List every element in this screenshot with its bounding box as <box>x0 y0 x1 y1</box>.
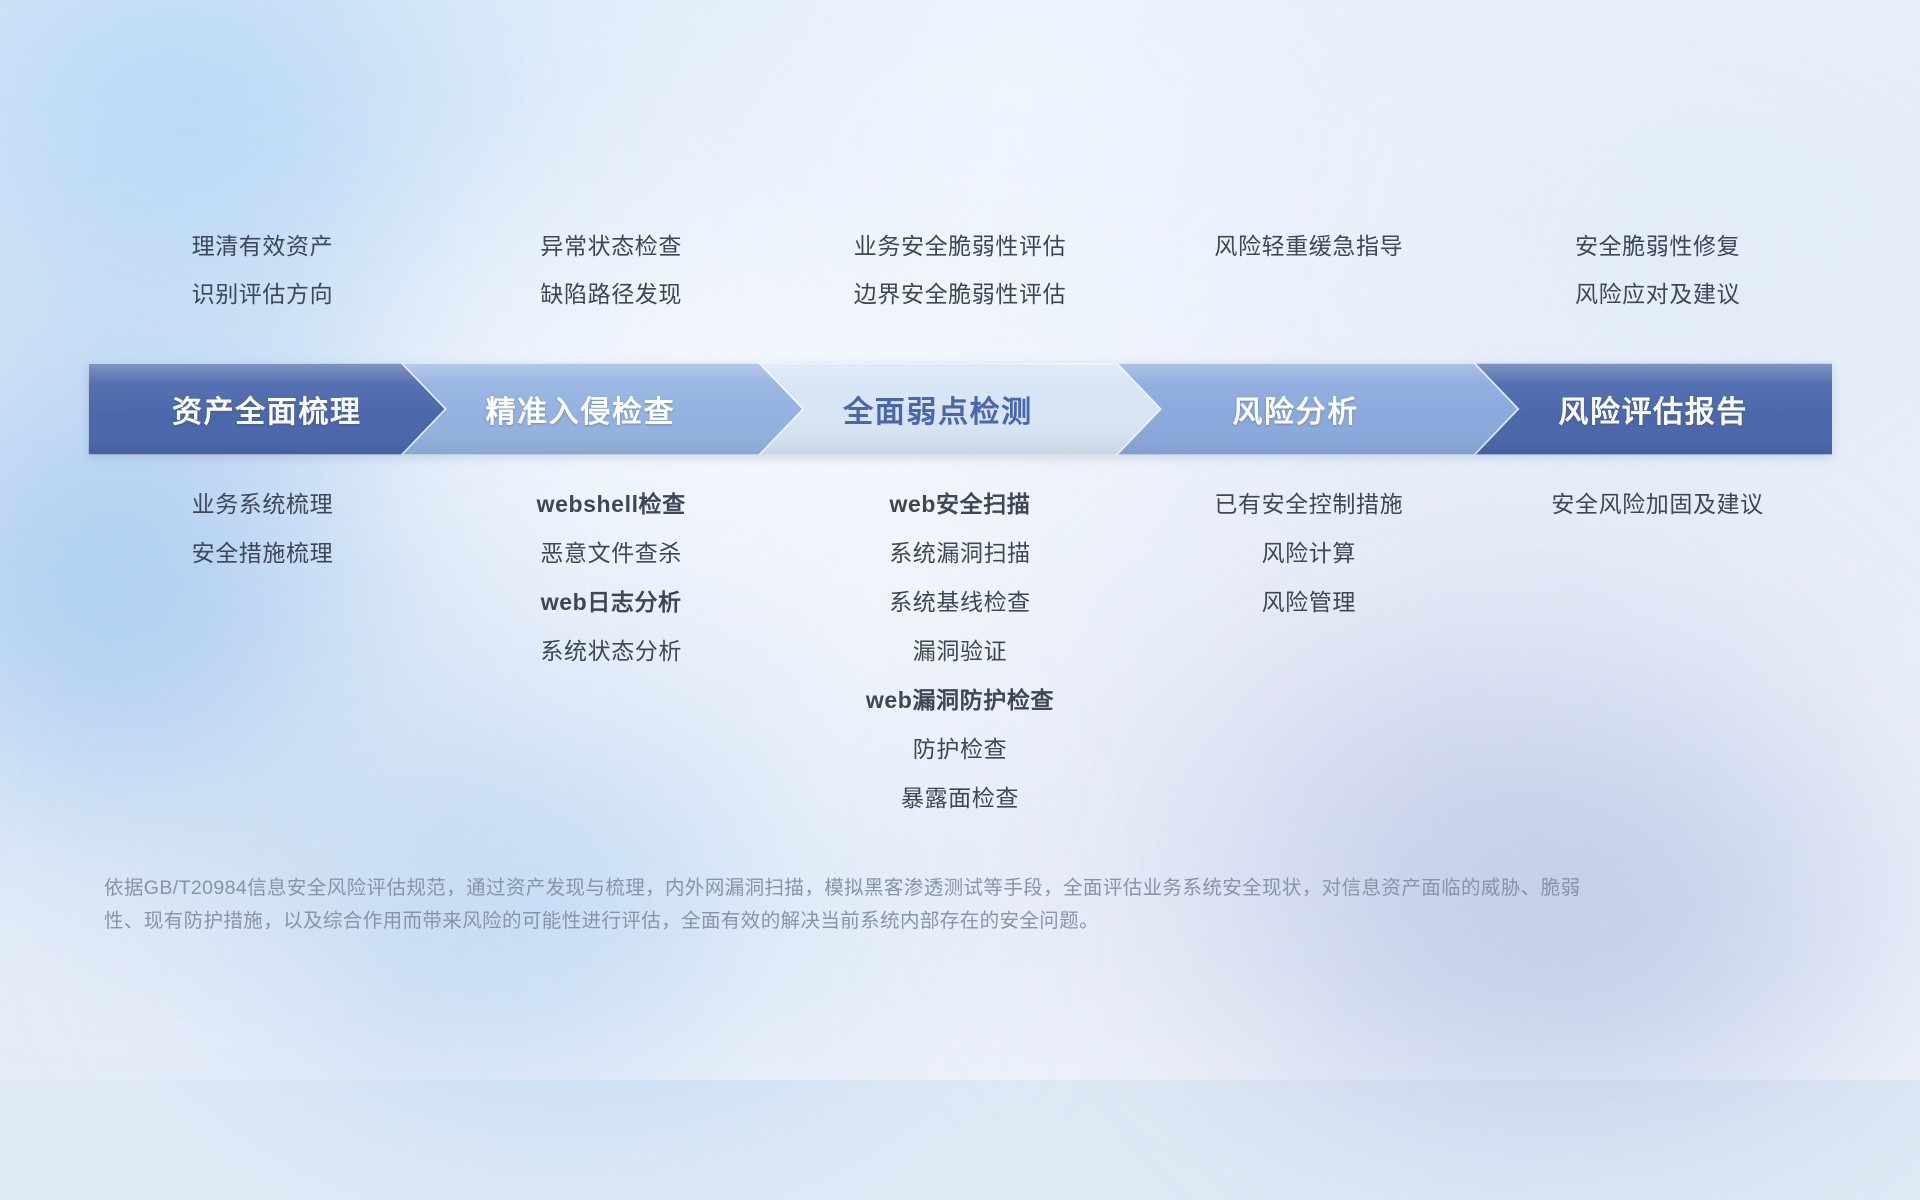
top-note-column: 业务安全脆弱性评估边界安全脆弱性评估 <box>786 222 1135 318</box>
chevron-shapes <box>88 363 1832 455</box>
top-note-line: 边界安全脆弱性评估 <box>786 270 1135 318</box>
bottom-note-item: web漏洞防护检查 <box>786 676 1135 725</box>
bottom-note-item: 业务系统梳理 <box>88 480 437 529</box>
bottom-note-item: 安全措施梳理 <box>88 529 437 578</box>
top-note-line: 风险轻重缓急指导 <box>1134 222 1483 270</box>
bottom-note-item: web日志分析 <box>437 578 786 627</box>
bottom-note-column: web安全扫描系统漏洞扫描系统基线检查漏洞验证web漏洞防护检查防护检查暴露面检… <box>786 480 1135 823</box>
stage-chevron-band: 资产全面梳理精准入侵检查全面弱点检测风险分析风险评估报告 <box>88 363 1832 455</box>
bottom-note-item: 防护检查 <box>786 725 1135 774</box>
bottom-note-item-text: web漏洞防护检查 <box>866 687 1054 713</box>
bottom-note-item: 暴露面检查 <box>786 774 1135 823</box>
bottom-note-column: 业务系统梳理安全措施梳理 <box>88 480 437 578</box>
chevron-sheen-1 <box>88 363 446 455</box>
bottom-note-item: 系统漏洞扫描 <box>786 529 1135 578</box>
bottom-note-item: 系统基线检查 <box>786 578 1135 627</box>
bottom-note-column: 已有安全控制措施风险计算风险管理 <box>1134 480 1483 627</box>
bottom-note-item-text: webshell检查 <box>537 491 686 517</box>
process-diagram: 理清有效资产识别评估方向异常状态检查缺陷路径发现业务安全脆弱性评估边界安全脆弱性… <box>0 0 1920 1080</box>
top-note-line: 异常状态检查 <box>437 222 786 270</box>
top-note-column: 风险轻重缓急指导 <box>1134 222 1483 318</box>
top-note-column: 安全脆弱性修复风险应对及建议 <box>1483 222 1832 318</box>
bottom-note-item: 风险管理 <box>1134 578 1483 627</box>
bottom-note-item-text: web安全扫描 <box>890 491 1031 517</box>
top-annotations: 理清有效资产识别评估方向异常状态检查缺陷路径发现业务安全脆弱性评估边界安全脆弱性… <box>88 222 1832 318</box>
bottom-note-item: webshell检查 <box>437 480 786 529</box>
bottom-note-item: 已有安全控制措施 <box>1134 480 1483 529</box>
bottom-note-item: 系统状态分析 <box>437 627 786 676</box>
top-note-line: 识别评估方向 <box>88 270 437 318</box>
bottom-note-item: web安全扫描 <box>786 480 1135 529</box>
bottom-note-item: 安全风险加固及建议 <box>1483 480 1832 529</box>
top-note-line: 理清有效资产 <box>88 222 437 270</box>
bottom-note-column: webshell检查恶意文件查杀web日志分析系统状态分析 <box>437 480 786 676</box>
chevron-sheen-2 <box>402 363 804 455</box>
top-note-column: 异常状态检查缺陷路径发现 <box>437 222 786 318</box>
top-note-line: 业务安全脆弱性评估 <box>786 222 1135 270</box>
bottom-note-item: 恶意文件查杀 <box>437 529 786 578</box>
chevron-sheen-3 <box>759 363 1161 455</box>
footer-description: 依据GB/T20984信息安全风险评估规范，通过资产发现与梳理，内外网漏洞扫描，… <box>104 872 1604 938</box>
top-note-column: 理清有效资产识别评估方向 <box>88 222 437 318</box>
bottom-note-item-text: web日志分析 <box>541 589 682 615</box>
chevron-sheen-5 <box>1474 363 1832 455</box>
bottom-note-item: 漏洞验证 <box>786 627 1135 676</box>
bottom-annotations: 业务系统梳理安全措施梳理webshell检查恶意文件查杀web日志分析系统状态分… <box>88 480 1832 823</box>
chevron-sheen-4 <box>1117 363 1519 455</box>
bottom-note-column: 安全风险加固及建议 <box>1483 480 1832 529</box>
top-note-line: 安全脆弱性修复 <box>1483 222 1832 270</box>
top-note-line: 缺陷路径发现 <box>437 270 786 318</box>
top-note-line: 风险应对及建议 <box>1483 270 1832 318</box>
bottom-note-item: 风险计算 <box>1134 529 1483 578</box>
